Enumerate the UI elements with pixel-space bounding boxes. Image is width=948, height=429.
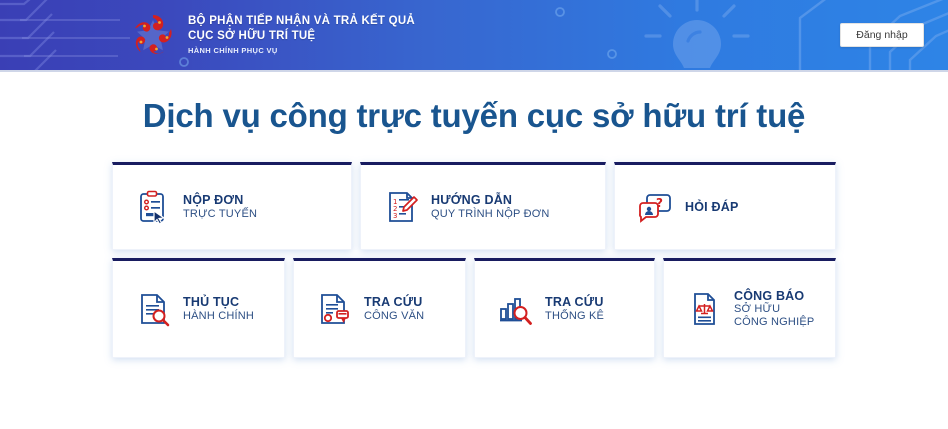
card-subtitle: TRỰC TUYẾN: [183, 208, 257, 221]
brand-block: BỘ PHẬN TIẾP NHẬN VÀ TRẢ KẾT QUẢ CỤC SỞ …: [128, 11, 415, 61]
card-subtitle: CÔNG VĂN: [364, 310, 424, 323]
svg-text:3: 3: [393, 212, 397, 220]
bar-chart-magnifier-icon: [497, 291, 533, 327]
numbered-list-pen-icon: 1 2 3: [383, 189, 419, 225]
card-nop-don-truc-tuyen[interactable]: NỘP ĐƠN TRỰC TUYẾN: [112, 162, 352, 250]
card-title: CÔNG BÁO: [734, 289, 814, 304]
document-magnifier-icon: [135, 291, 171, 327]
document-scales-icon: [686, 291, 722, 327]
card-subtitle: SỞ HỮU: [734, 303, 814, 316]
card-tra-cuu-cong-van[interactable]: TRA CỨU CÔNG VĂN: [293, 258, 466, 358]
main-content: Dịch vụ công trực tuyến cục sở hữu trí t…: [0, 72, 948, 429]
brand-line-2: CỤC SỞ HỮU TRÍ TUỆ: [188, 29, 415, 44]
service-cards: NỘP ĐƠN TRỰC TUYẾN 1 2 3: [112, 136, 836, 358]
card-subtitle: THỐNG KÊ: [545, 310, 604, 323]
card-hoi-dap[interactable]: ? HỎI ĐÁP: [614, 162, 836, 250]
question-speech-bubble-icon: ?: [637, 189, 673, 225]
card-thu-tuc-hanh-chinh[interactable]: THỦ TỤC HÀNH CHÍNH: [112, 258, 285, 358]
page-title: Dịch vụ công trực tuyến cục sở hữu trí t…: [0, 72, 948, 136]
brand-line-3: HÀNH CHÍNH PHỤC VỤ: [188, 45, 415, 57]
card-title: HỎI ĐÁP: [685, 200, 739, 215]
document-stamp-icon: [316, 291, 352, 327]
brand-line-1: BỘ PHẬN TIẾP NHẬN VÀ TRẢ KẾT QUẢ: [188, 14, 415, 29]
service-cards-row-2: THỦ TỤC HÀNH CHÍNH: [112, 258, 836, 358]
service-cards-row-1: NỘP ĐƠN TRỰC TUYẾN 1 2 3: [112, 162, 836, 250]
card-huong-dan-quy-trinh-nop-don[interactable]: 1 2 3 HƯỚNG DẪN QUY TRÌNH NỘP ĐƠN: [360, 162, 606, 250]
red-pinwheel-star-emblem: [128, 11, 178, 61]
header-divider: [0, 70, 948, 72]
card-subtitle: QUY TRÌNH NỘP ĐƠN: [431, 208, 550, 221]
card-cong-bao-so-huu-cong-nghiep[interactable]: CÔNG BÁO SỞ HỮU CÔNG NGHIỆP: [663, 258, 836, 358]
clipboard-cursor-icon: [135, 189, 171, 225]
login-button[interactable]: Đăng nhập: [840, 23, 924, 47]
card-title: THỦ TỤC: [183, 295, 254, 310]
card-title: HƯỚNG DẪN: [431, 193, 550, 208]
card-tra-cuu-thong-ke[interactable]: TRA CỨU THỐNG KÊ: [474, 258, 655, 358]
card-title: TRA CỨU: [545, 295, 604, 310]
site-header: BỘ PHẬN TIẾP NHẬN VÀ TRẢ KẾT QUẢ CỤC SỞ …: [0, 0, 948, 72]
card-title: TRA CỨU: [364, 295, 424, 310]
card-subtitle: HÀNH CHÍNH: [183, 310, 254, 323]
card-subtitle-2: CÔNG NGHIỆP: [734, 316, 814, 329]
card-title: NỘP ĐƠN: [183, 193, 257, 208]
